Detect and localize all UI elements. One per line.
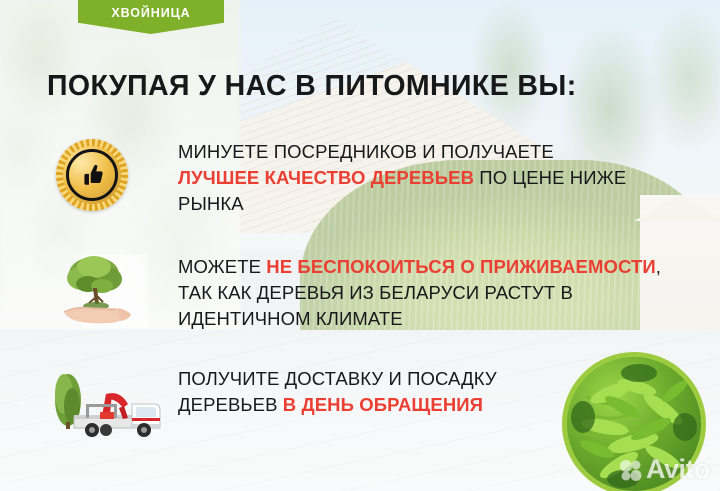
page-title: ПОКУПАЯ У НАС В ПИТОМНИКЕ ВЫ: <box>47 70 577 103</box>
thuja-closeup-photo <box>562 352 706 491</box>
benefit-2-line-1-pre: МОЖЕТЕ <box>178 256 266 277</box>
promo-poster: ХВОЙНИЦА ПОКУПАЯ У НАС В ПИТОМНИКЕ ВЫ: М… <box>0 0 720 491</box>
benefit-icon-3 <box>38 360 178 446</box>
benefit-row-2: МОЖЕТЕ НЕ БЕСПОКОИТЬСЯ О ПРИЖИВАЕМОСТИ, … <box>38 248 686 334</box>
benefit-3-highlight: В ДЕНЬ ОБРАЩЕНИЯ <box>283 394 483 415</box>
gold-medal-thumbs-up-icon <box>56 139 128 211</box>
benefit-1-line-3: РЫНКА <box>178 193 244 214</box>
brand-banner-label: ХВОЙНИЦА <box>111 6 190 20</box>
crane-truck-with-tree-icon <box>40 360 170 446</box>
benefit-text-2: МОЖЕТЕ НЕ БЕСПОКОИТЬСЯ О ПРИЖИВАЕМОСТИ, … <box>178 248 686 332</box>
benefit-2-line-2: ТАК КАК ДЕРЕВЬЯ ИЗ БЕЛАРУСИ РАСТУТ В <box>178 282 573 303</box>
benefit-icon-1 <box>38 133 178 219</box>
benefit-3-line-1: ПОЛУЧИТЕ ДОСТАВКУ И ПОСАДКУ <box>178 368 497 389</box>
benefit-1-line-2-post: ПО ЦЕНЕ НИЖЕ <box>474 167 626 188</box>
hand-holding-tree-icon <box>52 250 150 332</box>
benefit-1-line-1: МИНУЕТЕ ПОСРЕДНИКОВ И ПОЛУЧАЕТЕ <box>178 141 554 162</box>
benefit-2-line-1-post: , <box>656 256 661 277</box>
benefit-2-highlight: НЕ БЕСПОКОИТЬСЯ О ПРИЖИВАЕМОСТИ <box>266 256 655 277</box>
thuja-foliage-art <box>567 357 701 491</box>
benefit-row-1: МИНУЕТЕ ПОСРЕДНИКОВ И ПОЛУЧАЕТЕ ЛУЧШЕЕ К… <box>38 133 686 219</box>
benefit-3-line-2-pre: ДЕРЕВЬЕВ <box>178 394 283 415</box>
benefit-text-1: МИНУЕТЕ ПОСРЕДНИКОВ И ПОЛУЧАЕТЕ ЛУЧШЕЕ К… <box>178 133 686 217</box>
benefit-2-line-3: ИДЕНТИЧНОМ КЛИМАТЕ <box>178 308 403 329</box>
benefit-icon-2 <box>38 248 178 334</box>
thumbs-up-icon <box>79 162 105 188</box>
benefit-1-highlight: ЛУЧШЕЕ КАЧЕСТВО ДЕРЕВЬЕВ <box>178 167 474 188</box>
